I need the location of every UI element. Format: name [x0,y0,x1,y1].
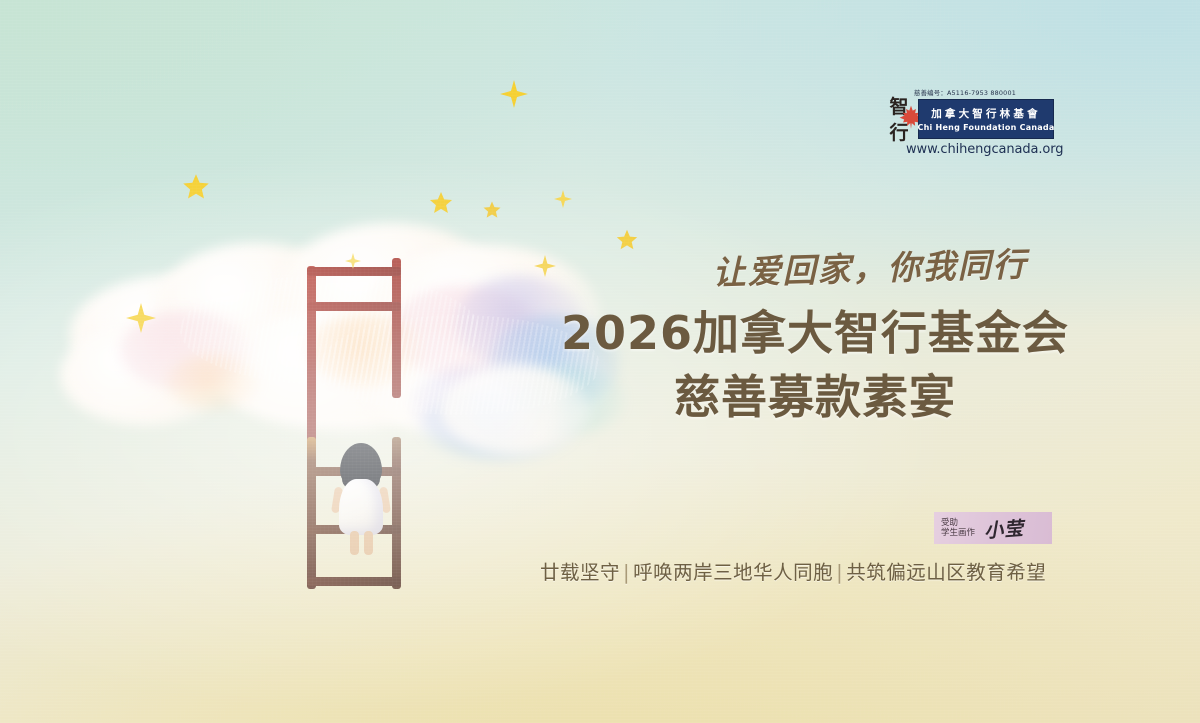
star-icon [181,172,211,202]
website-url[interactable]: www.chihengcanada.org [906,142,1052,157]
tagline: 廿载坚守|呼唤两岸三地华人同胞|共筑偏远山区教育希望 [540,556,1080,585]
ladder-upper [307,258,417,458]
tagline-separator-1: | [620,561,633,584]
girl-dress [339,479,383,535]
star-icon [428,190,454,216]
girl-leg-right [364,531,373,555]
charity-registration-number: 慈善编号：A5116-7953 880001 [914,88,1016,97]
girl-leg-left [350,531,359,555]
tagline-separator-2: | [833,561,846,584]
sparkle-icon [126,303,156,333]
artist-name: 小莹 [983,513,1025,543]
logo-name-band: 加拿大智行林基會 Chi Heng Foundation Canada [918,99,1054,139]
sparkle-icon [554,190,572,208]
poster-canvas: 让爱回家，你我同行 2026加拿大智行基金会 慈善募款素宴 廿载坚守|呼唤两岸三… [0,0,1200,723]
foundation-logo[interactable]: 智 行 慈善编号：A5116-7953 880001 加拿大智行林基會 Chi … [876,88,1052,172]
main-title-line-1: 2026加拿大智行基金会 [545,297,1085,363]
artist-credit-label: 受助 学生画作 [941,518,975,538]
star-icon [482,200,502,220]
logo-name-english: Chi Heng Foundation Canada [917,123,1054,132]
logo-name-chinese: 加拿大智行林基會 [931,106,1041,121]
artist-credit-stamp: 受助 学生画作 小莹 [934,512,1052,544]
sparkle-icon [345,253,361,269]
tagline-part-1: 廿载坚守 [540,561,620,584]
tagline-part-3: 共筑偏远山区教育希望 [846,561,1046,584]
sparkle-icon [500,80,528,108]
tagline-part-2: 呼唤两岸三地华人同胞 [633,561,833,584]
artist-credit-label-line-2: 学生画作 [941,528,975,538]
sparkle-icon [534,255,556,277]
main-title-line-2: 慈善募款素宴 [545,361,1085,427]
artist-credit-label-line-1: 受助 [941,518,975,528]
star-icon [615,228,639,252]
girl-climbing-figure [330,443,392,558]
headline-script: 让爱回家，你我同行 [659,236,1080,296]
